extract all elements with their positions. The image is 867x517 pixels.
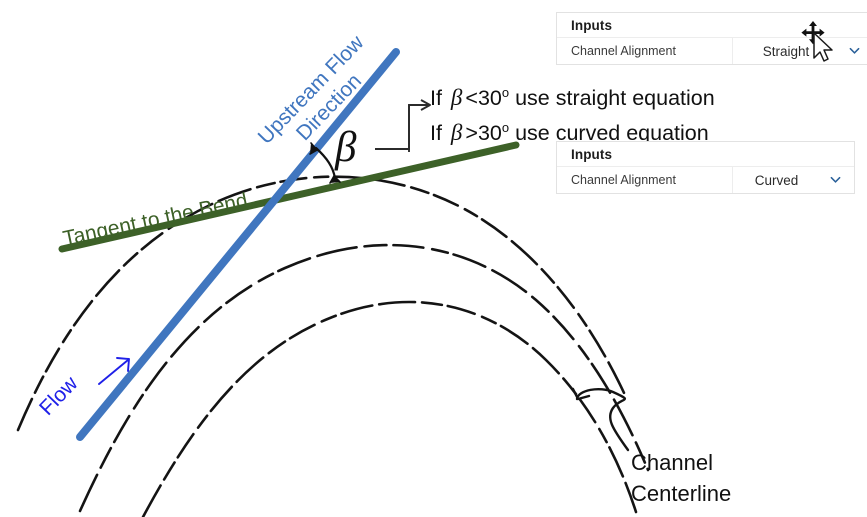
cursor-layer [0, 0, 867, 517]
diagram-canvas: Upstream Flow Direction Tangent to the B… [0, 0, 867, 517]
arrow-pointer-icon [814, 33, 832, 61]
